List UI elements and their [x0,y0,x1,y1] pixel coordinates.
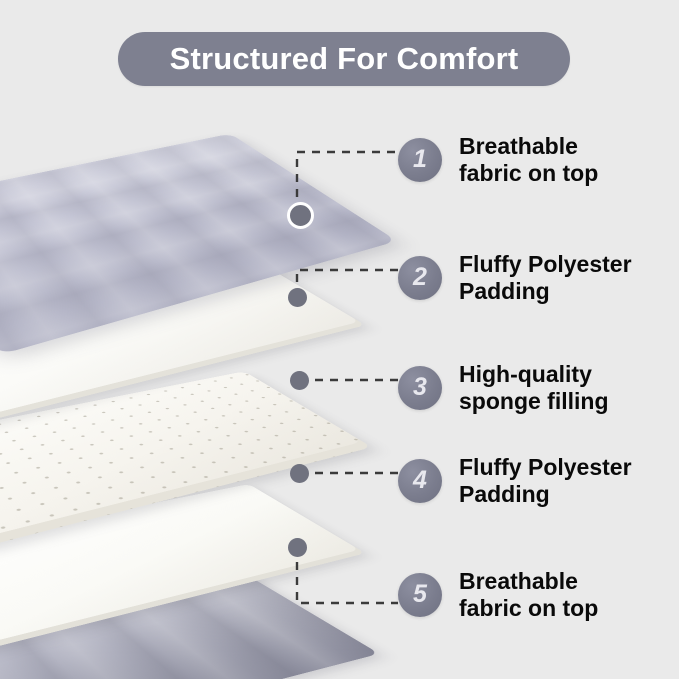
callout-number-2: 2 [413,265,427,290]
callout-label-3: High-quality sponge filling [459,361,609,415]
page-title-pill: Structured For Comfort [118,32,570,86]
callout-number-3: 3 [413,375,427,400]
callout-number-5: 5 [413,582,427,607]
anchor-dot-5 [288,538,307,557]
infographic-canvas: Structured For Comfort 1 Breathable fabr… [0,0,679,679]
callout-2: 2 Fluffy Polyester Padding [398,251,632,305]
callout-badge-5: 5 [398,573,442,617]
callout-label-2: Fluffy Polyester Padding [459,251,632,305]
callout-badge-3: 3 [398,366,442,410]
anchor-dot-3 [290,371,309,390]
callout-number-1: 1 [413,147,427,172]
page-title: Structured For Comfort [170,41,519,77]
callout-number-4: 4 [413,468,427,493]
callout-label-1: Breathable fabric on top [459,133,598,187]
callout-badge-1: 1 [398,138,442,182]
callout-3: 3 High-quality sponge filling [398,361,609,415]
callout-4: 4 Fluffy Polyester Padding [398,454,632,508]
mattress-layers-illustration [0,70,380,650]
anchor-dot-1 [287,202,314,229]
callout-badge-4: 4 [398,459,442,503]
callout-label-5: Breathable fabric on top [459,568,598,622]
callout-5: 5 Breathable fabric on top [398,568,598,622]
callout-badge-2: 2 [398,256,442,300]
callout-1: 1 Breathable fabric on top [398,133,598,187]
anchor-dot-2 [288,288,307,307]
anchor-dot-4 [290,464,309,483]
callout-label-4: Fluffy Polyester Padding [459,454,632,508]
